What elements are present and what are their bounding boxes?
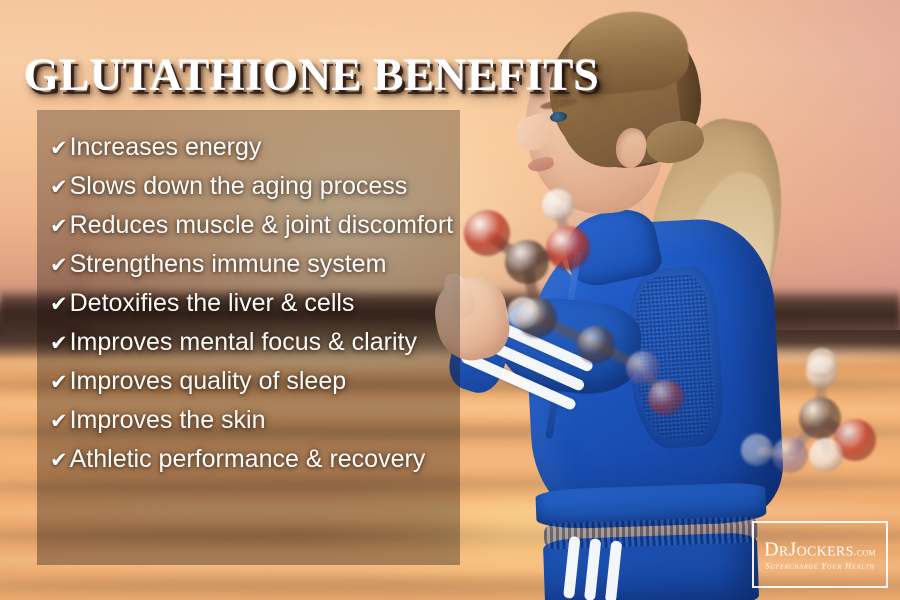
benefit-item: ✔Reduces muscle & joint discomfort [50,211,470,250]
check-mark-icon: ✔ [50,450,68,471]
benefit-item-label: Improves the skin [70,406,266,435]
benefit-item-label: Reduces muscle & joint discomfort [70,211,453,240]
check-mark-icon: ✔ [50,333,68,354]
benefit-item: ✔Improves the skin [50,406,470,445]
page-title: GLUTATHIONE BENEFITS [24,49,599,101]
check-mark-icon: ✔ [50,411,68,432]
benefit-item: ✔Slows down the aging process [50,172,470,211]
check-mark-icon: ✔ [50,294,68,315]
benefit-item: ✔Strengthens immune system [50,250,470,289]
benefit-item-label: Athletic performance & recovery [70,445,426,474]
benefit-item: ✔Increases energy [50,133,470,172]
benefit-item: ✔Improves mental focus & clarity [50,328,470,367]
check-mark-icon: ✔ [50,177,68,198]
benefit-item: ✔Detoxifies the liver & cells [50,289,470,328]
infographic-poster: GLUTATHIONE BENEFITS ✔Increases energy✔S… [0,0,900,600]
check-mark-icon: ✔ [50,138,68,159]
brand-tagline: Supercharge Your Health [754,560,886,570]
brand-logo[interactable]: DrJockers.com Supercharge Your Health [752,521,888,588]
benefits-list: ✔Increases energy✔Slows down the aging p… [50,133,470,484]
check-mark-icon: ✔ [50,255,68,276]
brand-logo-inner: DrJockers.com Supercharge Your Health [754,539,886,570]
brand-tld: .com [854,546,876,558]
check-mark-icon: ✔ [50,216,68,237]
brand-logo-wordmark: DrJockers.com [754,539,886,559]
benefit-item-label: Increases energy [70,133,262,162]
check-mark-icon: ✔ [50,372,68,393]
benefit-item-label: Improves mental focus & clarity [70,328,417,357]
benefit-item-label: Detoxifies the liver & cells [70,289,355,318]
benefit-item-label: Strengthens immune system [70,250,387,279]
benefit-item-label: Slows down the aging process [70,172,408,201]
brand-name: Jockers [789,538,854,560]
brand-prefix: Dr [764,538,788,560]
shorts-stripes [563,536,649,600]
benefit-item: ✔Improves quality of sleep [50,367,470,406]
benefit-item: ✔Athletic performance & recovery [50,445,470,484]
benefit-item-label: Improves quality of sleep [70,367,347,396]
